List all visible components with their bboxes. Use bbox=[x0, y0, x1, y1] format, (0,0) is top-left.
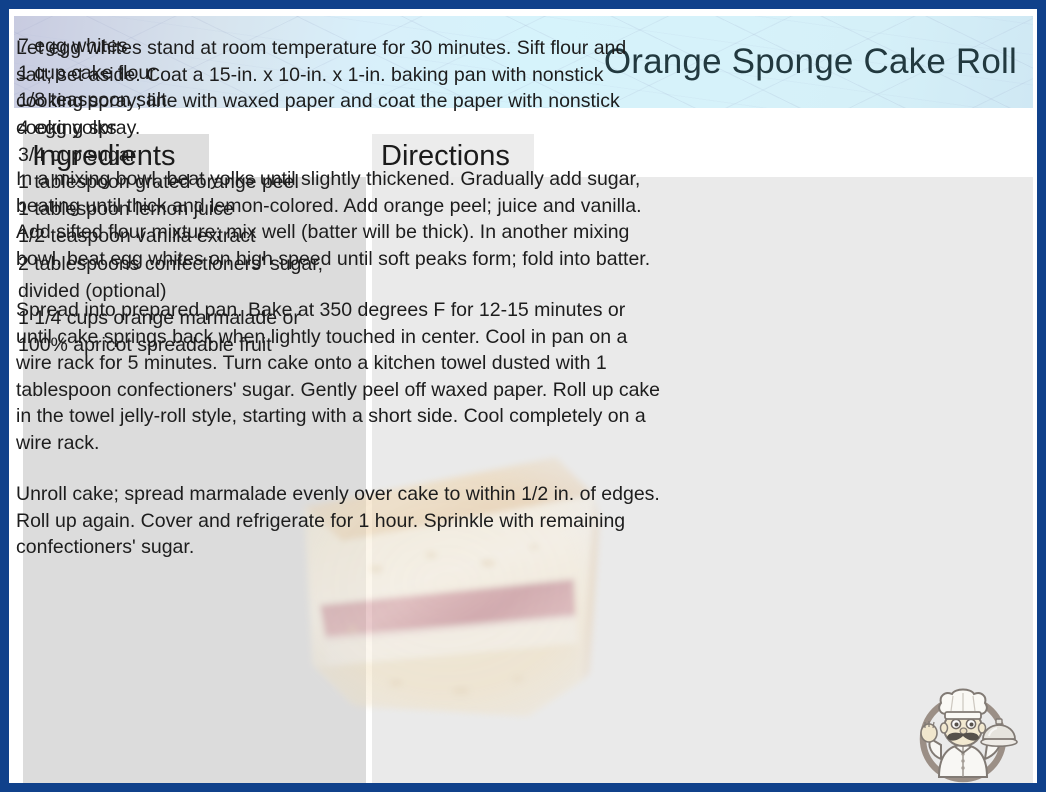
recipe-card: Orange Sponge Cake Roll Ingredients 7 eg… bbox=[0, 0, 1046, 792]
direction-paragraph: In a mixing bowl, beat yolks until sligh… bbox=[16, 166, 666, 272]
card-inner: Orange Sponge Cake Roll Ingredients 7 eg… bbox=[9, 9, 1037, 783]
directions-body: Let egg whites stand at room temperature… bbox=[16, 35, 666, 561]
direction-paragraph: Unroll cake; spread marmalade evenly ove… bbox=[16, 481, 666, 561]
direction-paragraph: Spread into prepared pan. Bake at 350 de… bbox=[16, 297, 666, 456]
direction-paragraph: Let egg whites stand at room temperature… bbox=[16, 35, 666, 141]
